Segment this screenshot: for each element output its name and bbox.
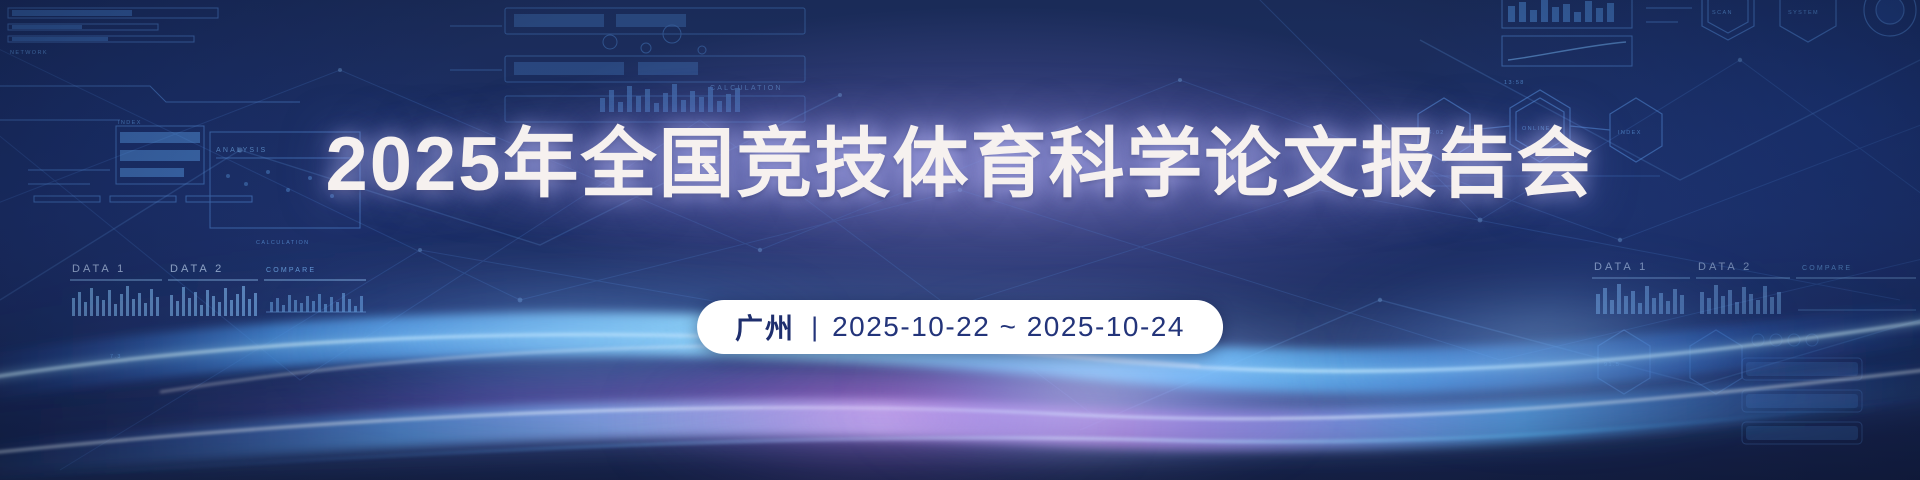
page-title: 2025年全国竞技体育科学论文报告会 [325,122,1594,208]
pill-separator: | [811,312,818,343]
event-date-range: 2025-10-22 ~ 2025-10-24 [832,311,1185,343]
banner-content: 2025年全国竞技体育科学论文报告会 广州 | 2025-10-22 ~ 202… [0,0,1920,480]
conference-banner: NETWORK CALCULATION [0,0,1920,480]
event-details-pill: 广州 | 2025-10-22 ~ 2025-10-24 [697,300,1223,354]
event-city: 广州 [735,307,795,347]
